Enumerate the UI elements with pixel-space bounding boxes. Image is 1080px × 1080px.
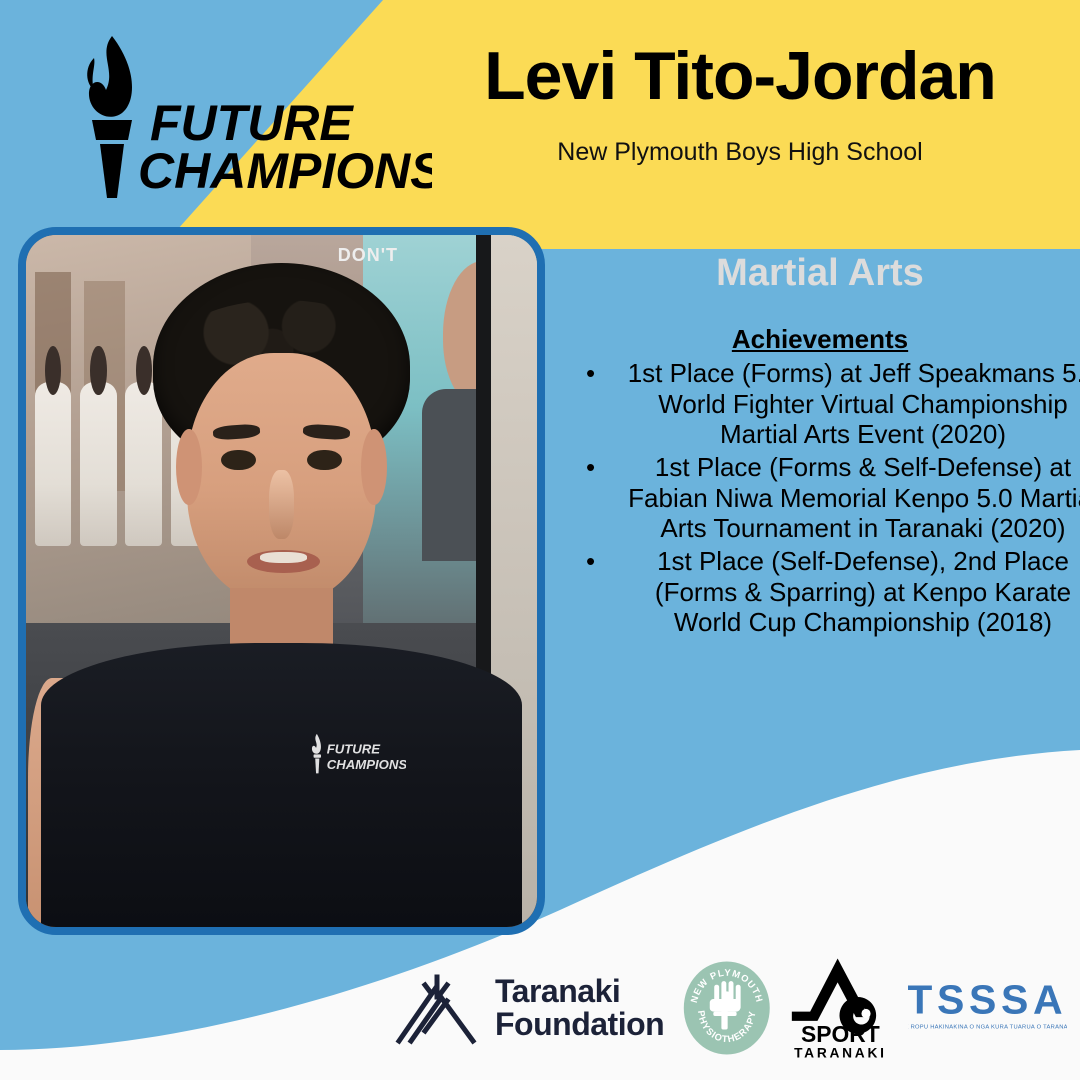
new-plymouth-physiotherapy-logo: NEW PLYMOUTH PHYSIOTHERAPY xyxy=(682,956,772,1060)
taranaki-foundation-wordmark: Taranaki Foundation xyxy=(495,975,664,1040)
achievements-list: • 1st Place (Forms) at Jeff Speakmans 5.… xyxy=(578,358,1080,640)
subject-nose xyxy=(269,470,295,539)
sport-taranaki-line1: SPORT xyxy=(801,1021,880,1047)
taranaki-mountain-icon xyxy=(395,971,481,1045)
poster-canvas: DON'T UP WITH PLAY YOUTH SPORT IS CHANGI… xyxy=(0,0,1080,1080)
svg-text:FUTURE: FUTURE xyxy=(327,742,382,757)
athlete-school: New Plymouth Boys High School xyxy=(420,138,1060,167)
photo-inner: DON'T UP WITH PLAY YOUTH SPORT IS CHANGI… xyxy=(26,235,537,927)
athlete-photo: DON'T UP WITH PLAY YOUTH SPORT IS CHANGI… xyxy=(18,227,545,935)
sport-taranaki-logo: SPORT TARANAKI xyxy=(790,952,891,1064)
future-champions-line2: CHAMPIONS xyxy=(138,143,432,198)
achievement-text: 1st Place (Forms & Self-Defense) at Fabi… xyxy=(628,452,1080,543)
list-item: • 1st Place (Self-Defense), 2nd Place (F… xyxy=(620,546,1080,638)
bullet-icon: • xyxy=(586,546,595,577)
subject-teeth xyxy=(260,552,307,563)
bullet-icon: • xyxy=(586,452,595,483)
tsssa-logo: TSSSA TE ROPU HAKINAKINA O NGA KURA TUAR… xyxy=(908,970,1067,1046)
sweatshirt-future-champions-logo: FUTURE CHAMPIONS xyxy=(307,719,406,788)
taranaki-foundation-line2: Foundation xyxy=(495,1008,664,1041)
taranaki-foundation-line1: Taranaki xyxy=(495,975,664,1008)
taranaki-foundation-logo: Taranaki Foundation xyxy=(395,971,664,1045)
achievements-heading: Achievements xyxy=(560,324,1080,355)
tsssa-wordmark: TSSSA xyxy=(908,977,1067,1023)
subject-ear-left xyxy=(176,429,202,505)
future-champions-logo: FUTURE CHAMPIONS xyxy=(72,28,432,198)
list-item: • 1st Place (Forms & Self-Defense) at Fa… xyxy=(620,452,1080,544)
achievement-text: 1st Place (Forms) at Jeff Speakmans 5.0 … xyxy=(628,358,1080,449)
sponsor-logos: Taranaki Foundation NEW PLYMOUTH PHYSIOT… xyxy=(395,950,1067,1066)
tsssa-tagline: TE ROPU HAKINAKINA O NGA KURA TUARUA O T… xyxy=(908,1025,1067,1031)
list-item: • 1st Place (Forms) at Jeff Speakmans 5.… xyxy=(620,358,1080,450)
subject-sweatshirt xyxy=(41,643,522,927)
achievement-text: 1st Place (Self-Defense), 2nd Place (For… xyxy=(655,546,1071,637)
subject-eye-left xyxy=(221,450,255,471)
sport-taranaki-line2: TARANAKI xyxy=(794,1045,887,1060)
svg-text:CHAMPIONS: CHAMPIONS xyxy=(327,758,406,773)
subject-eye-right xyxy=(307,450,341,471)
page-title: Levi Tito-Jordan xyxy=(420,42,1060,111)
bullet-icon: • xyxy=(586,358,595,389)
photo-subject: FUTURE CHAMPIONS xyxy=(67,235,496,927)
sport-title: Martial Arts xyxy=(560,252,1080,295)
subject-ear-right xyxy=(361,429,387,505)
